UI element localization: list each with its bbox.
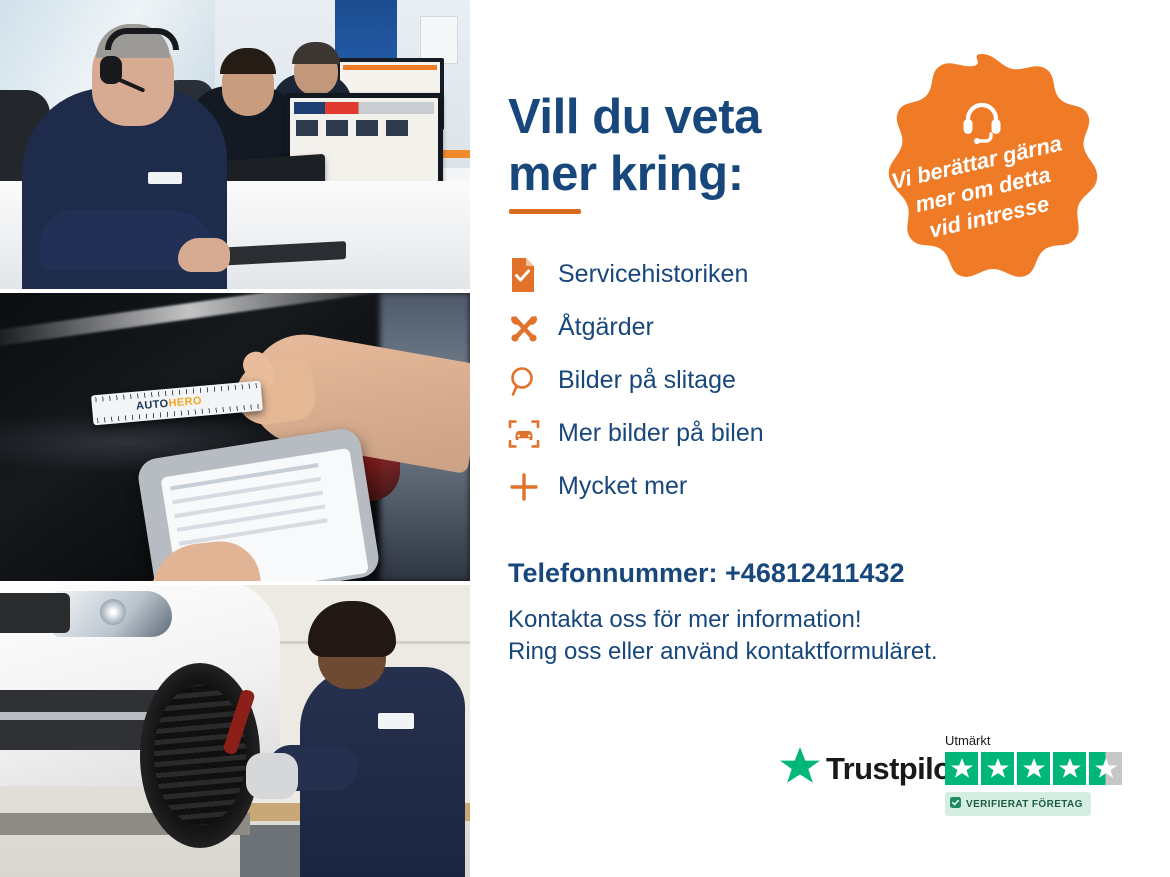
headset-band [105, 28, 179, 50]
photo-call-center-agents-with-headsets [0, 0, 470, 289]
star-4 [1053, 752, 1086, 785]
agent-middle-head [222, 56, 274, 116]
mechanic-autohero-badge [378, 713, 414, 729]
trustpilot-rating-label: Utmärkt [945, 733, 1130, 748]
feature-item-atgarder: Åtgärder [508, 301, 938, 354]
agent-hand [178, 238, 230, 272]
star-2 [981, 752, 1014, 785]
verified-company-label: VERIFIERAT FÖRETAG [966, 799, 1083, 810]
magnifier-icon [508, 365, 558, 397]
feature-item-bilder-pa-slitage: Bilder på slitage [508, 354, 938, 407]
feature-label: Mycket mer [558, 474, 687, 499]
phone-label: Telefonnummer: [508, 558, 718, 588]
photo-mechanic-inspecting-wheel-of-white-car-on-lift [0, 585, 470, 877]
contact-block: Telefonnummer: +46812411432 Kontakta oss… [508, 558, 1028, 669]
trustpilot-star-icon [780, 747, 820, 790]
car-headlight [52, 591, 172, 637]
callout-badge: Vi berättar gärna mer om detta vid intre… [862, 52, 1102, 304]
contact-text: Kontakta oss för mer information! Ring o… [508, 604, 1028, 669]
contact-line-1: Kontakta oss för mer information! [508, 606, 861, 633]
verified-company-badge: VERIFIERAT FÖRETAG [945, 792, 1091, 816]
headline-line-1: Vill du veta [508, 90, 761, 144]
trustpilot-block[interactable]: Trustpilot Utmärkt [780, 733, 1130, 823]
photo-column: AUTOHERO [0, 0, 470, 877]
car-scan-frame-icon [508, 418, 558, 450]
car-grille [0, 593, 70, 633]
tools-wrench-screwdriver-icon [508, 312, 558, 344]
feature-item-mycket-mer: Mycket mer [508, 460, 938, 513]
feature-label: Mer bilder på bilen [558, 421, 764, 446]
autohero-logo-hero: HERO [168, 395, 202, 410]
promo-banner: AUTOHERO Vill du ve [0, 0, 1170, 877]
agent-name-badge [148, 172, 182, 184]
feature-label: Åtgärder [558, 315, 654, 340]
feature-label: Bilder på slitage [558, 368, 736, 393]
checklist-document-icon [508, 258, 558, 292]
contact-line-2: Ring oss eller använd kontaktformuläret. [508, 638, 938, 665]
autohero-logo: AUTOHERO [136, 395, 203, 413]
star-5-half [1089, 752, 1122, 785]
mechanic-glove [246, 753, 298, 799]
title-divider [509, 209, 581, 214]
trustpilot-rating: Utmärkt [945, 733, 1130, 816]
verified-check-icon [950, 795, 961, 813]
trustpilot-wordmark: Trustpilot [826, 751, 961, 787]
headline-line-2: mer kring: [508, 147, 744, 201]
star-1 [945, 752, 978, 785]
trustpilot-logo[interactable]: Trustpilot [780, 747, 961, 790]
wall-sheet [420, 16, 458, 64]
autohero-logo-auto: AUTO [136, 398, 170, 413]
phone-number[interactable]: +46812411432 [725, 558, 904, 588]
trustpilot-stars [945, 752, 1130, 785]
phone-line: Telefonnummer: +46812411432 [508, 558, 1028, 589]
feature-label: Servicehistoriken [558, 262, 748, 287]
headset-icon [958, 96, 1006, 149]
feature-item-mer-bilder-pa-bilen: Mer bilder på bilen [508, 407, 938, 460]
photo-inspector-measuring-black-car-with-autohero-ruler: AUTOHERO [0, 293, 470, 581]
agent-back-head [294, 48, 338, 96]
star-3 [1017, 752, 1050, 785]
plus-icon [508, 471, 558, 503]
